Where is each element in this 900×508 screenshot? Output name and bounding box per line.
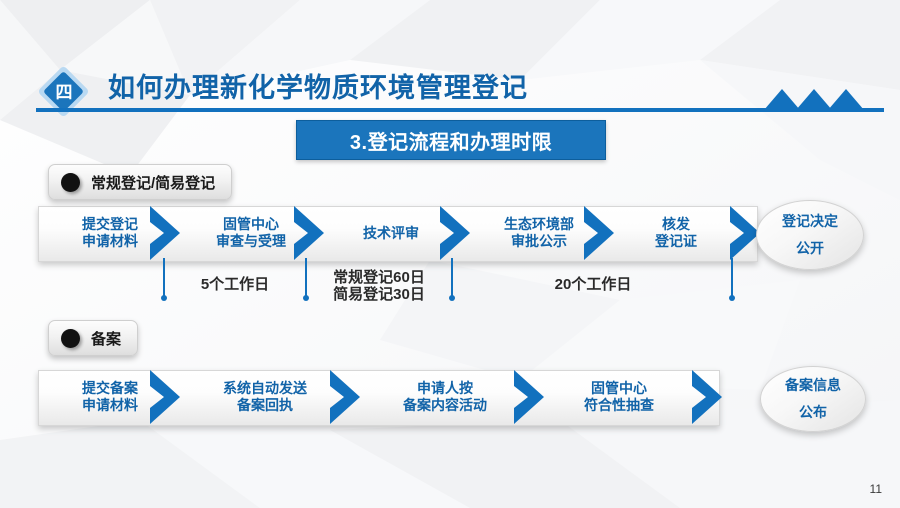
chevron-arrow-icon — [688, 370, 730, 424]
chevron-arrow-icon — [436, 206, 478, 260]
flow-step-record-2[interactable]: 系统自动发送 备案回执 — [180, 370, 350, 424]
slide-canvas: 四 如何办理新化学物质环境管理登记 3.登记流程和办理时限 常规登记/简易登记 … — [0, 0, 900, 508]
page-title: 如何办理新化学物质环境管理登记 — [108, 66, 528, 105]
flow-endcap-regular[interactable]: 登记决定 公开 — [756, 200, 864, 270]
flow-step-record-4[interactable]: 固管中心 符合性抽查 — [544, 370, 694, 424]
chevron-arrow-icon — [146, 206, 188, 260]
duration-connector — [163, 258, 165, 296]
group-label-record: 备案 — [48, 320, 138, 356]
group-label-regular: 常规登记/简易登记 — [48, 164, 232, 200]
flow-row-record: 提交备案 申请材料 系统自动发送 备案回执 申请人按 备案内容活动 固管中心 符… — [38, 370, 868, 424]
duration-label-2: 常规登记60日 简易登记30日 — [307, 270, 451, 304]
section-banner: 3.登记流程和办理时限 — [296, 120, 606, 160]
chevron-arrow-icon — [580, 206, 622, 260]
flow-step-regular-5[interactable]: 核发 登记证 — [620, 206, 732, 260]
duration-label-1: 5个工作日 — [168, 277, 302, 294]
group-label-regular-text: 常规登记/简易登记 — [91, 172, 231, 193]
duration-connector — [731, 258, 733, 296]
bullet-dot-icon — [61, 173, 80, 192]
flow-step-record-3[interactable]: 申请人按 备案内容活动 — [360, 370, 530, 424]
duration-connector — [451, 258, 453, 296]
flow-row-regular: 提交登记 申请材料 固管中心 审查与受理 技术评审 生态环境部 审批公示 核发 … — [38, 206, 868, 260]
flow-endcap-record[interactable]: 备案信息 公布 — [760, 366, 866, 432]
chevron-arrow-icon — [290, 206, 332, 260]
group-label-record-text: 备案 — [91, 328, 137, 349]
duration-label-3: 20个工作日 — [455, 277, 731, 294]
bullet-dot-icon — [61, 329, 80, 348]
slide-header: 四 如何办理新化学物质环境管理登记 — [0, 0, 900, 120]
chevron-arrow-icon — [510, 370, 552, 424]
section-banner-label: 3.登记流程和办理时限 — [350, 126, 552, 155]
chevron-arrow-icon — [146, 370, 188, 424]
chevron-arrow-icon — [326, 370, 368, 424]
mountain-decoration-icon — [756, 84, 876, 110]
page-number: 11 — [870, 482, 882, 496]
